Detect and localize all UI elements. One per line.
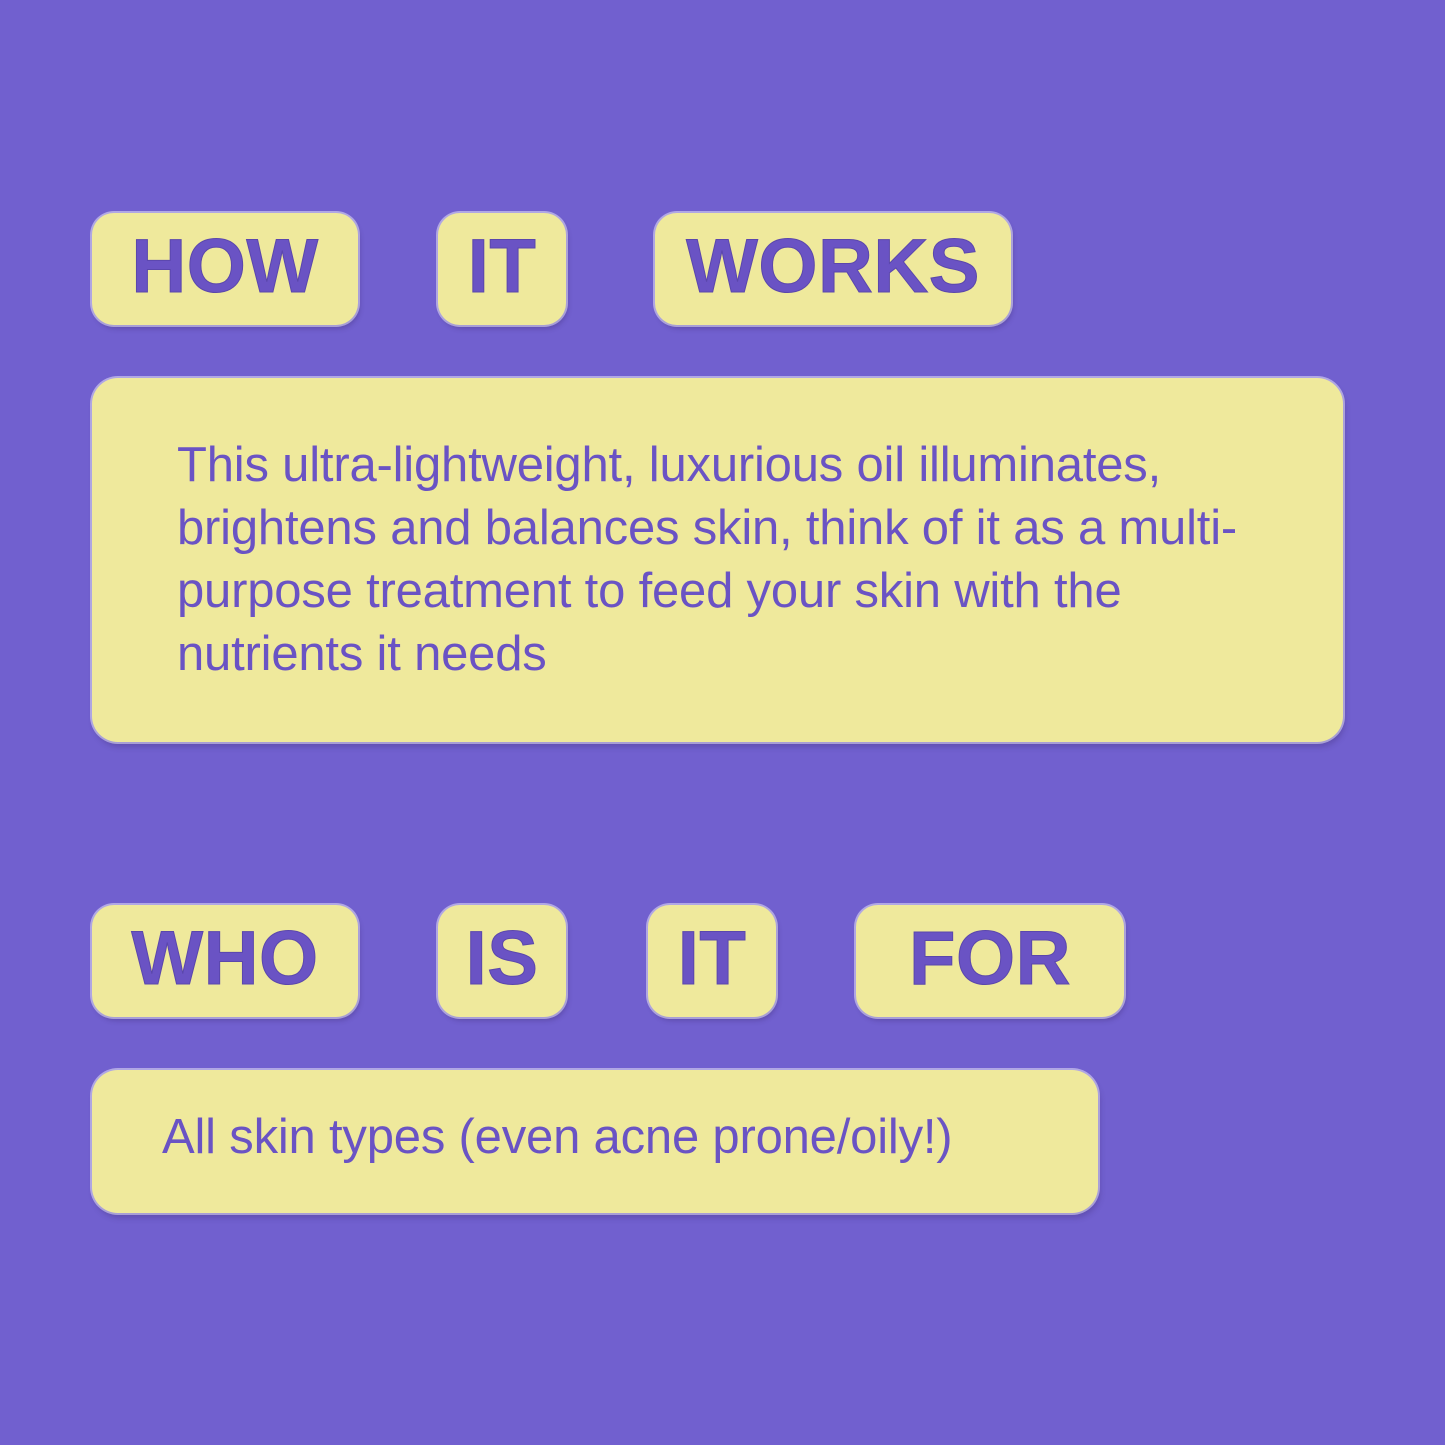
heading-chip-for: FOR	[856, 905, 1124, 1017]
heading-chip-is-label: IS	[466, 921, 539, 1001]
heading-chip-it-label: IT	[468, 229, 537, 309]
heading-chip-is: IS	[438, 905, 566, 1017]
heading-chip-works: WORKS	[655, 213, 1011, 325]
heading-chip-for-label: FOR	[909, 921, 1071, 1001]
heading-chip-it: IT	[438, 213, 566, 325]
who-is-it-for-card: All skin types (even acne prone/oily!)	[92, 1070, 1098, 1213]
heading-chip-how: HOW	[92, 213, 358, 325]
heading-chip-it-second-label: IT	[678, 921, 747, 1001]
heading-chip-it-second: IT	[648, 905, 776, 1017]
heading-chip-who: WHO	[92, 905, 358, 1017]
product-info-graphic: HOW IT WORKS This ultra-lightweight, lux…	[0, 0, 1445, 1445]
who-is-it-for-body-text: All skin types (even acne prone/oily!)	[162, 1106, 1062, 1169]
how-it-works-body-text: This ultra-lightweight, luxurious oil il…	[177, 434, 1297, 686]
heading-chip-who-label: WHO	[131, 921, 318, 1001]
heading-chip-works-label: WORKS	[686, 229, 980, 309]
how-it-works-card: This ultra-lightweight, luxurious oil il…	[92, 378, 1343, 742]
heading-chip-how-label: HOW	[131, 229, 318, 309]
